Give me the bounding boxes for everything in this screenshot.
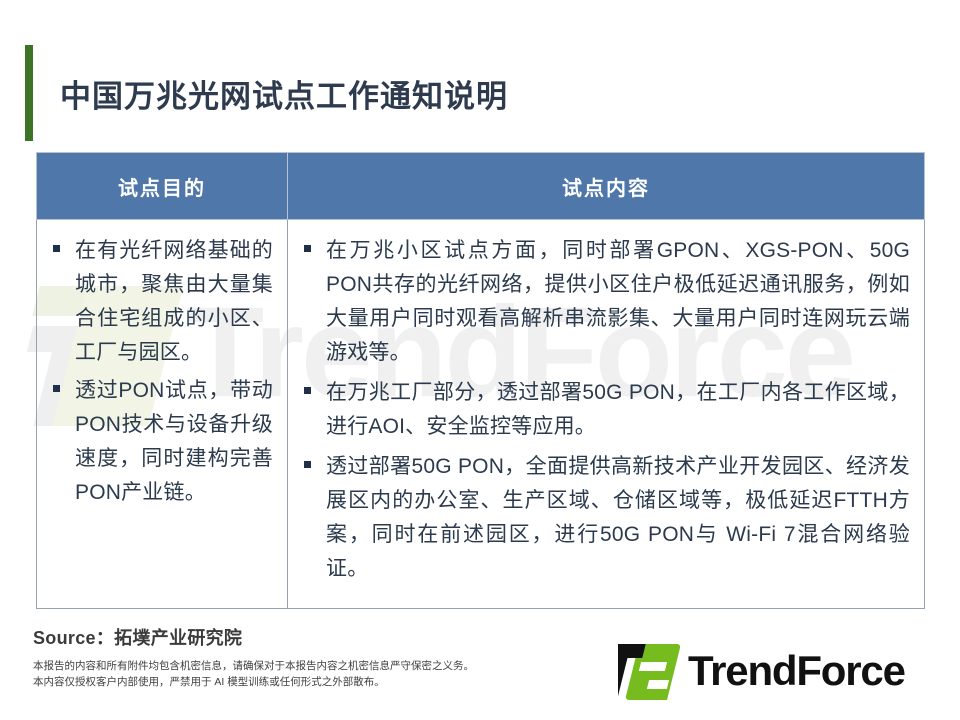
column-header-purpose: 试点目的: [37, 153, 288, 220]
trendforce-mark-icon: [618, 642, 680, 700]
trendforce-wordmark: TrendForce: [688, 650, 905, 692]
list-item: 透过PON试点，带动PON技术与设备升级速度，同时建构完善PON产业链。: [47, 374, 273, 510]
column-header-content: 试点内容: [288, 153, 925, 220]
page-title: 中国万兆光网试点工作通知说明: [0, 45, 508, 141]
purpose-bullet-list: 在有光纤网络基础的城市，聚焦由大量集合住宅组成的小区、工厂与园区。 透过PON试…: [47, 234, 273, 510]
list-item: 透过部署50G PON，全面提供高新技术产业开发园区、经济发展区内的办公室、生产…: [298, 450, 910, 586]
source-label: Source：拓墣产业研究院: [33, 624, 474, 650]
disclaimer-line-1: 本报告的内容和所有附件均包含机密信息，请确保对于本报告内容之机密信息严守保密之义…: [33, 658, 474, 674]
list-item: 在有光纤网络基础的城市，聚焦由大量集合住宅组成的小区、工厂与园区。: [47, 234, 273, 370]
table-body: 在有光纤网络基础的城市，聚焦由大量集合住宅组成的小区、工厂与园区。 透过PON试…: [37, 220, 925, 609]
table-header-row: 试点目的 试点内容: [37, 153, 925, 220]
content-bullet-list: 在万兆小区试点方面，同时部署GPON、XGS-PON、50G PON共存的光纤网…: [298, 234, 910, 586]
disclaimer-line-2: 本内容仅授权客户内部使用，严禁用于 AI 模型训练或任何形式之外部散布。: [33, 674, 474, 690]
cell-content: 在万兆小区试点方面，同时部署GPON、XGS-PON、50G PON共存的光纤网…: [288, 220, 925, 609]
cell-purpose: 在有光纤网络基础的城市，聚焦由大量集合住宅组成的小区、工厂与园区。 透过PON试…: [37, 220, 288, 609]
trendforce-logo: TrendForce: [618, 640, 938, 702]
title-accent-bar: [25, 45, 33, 141]
footer: Source：拓墣产业研究院 本报告的内容和所有附件均包含机密信息，请确保对于本…: [33, 624, 474, 691]
table-header: 试点目的 试点内容: [37, 153, 925, 220]
table-row: 在有光纤网络基础的城市，聚焦由大量集合住宅组成的小区、工厂与园区。 透过PON试…: [37, 220, 925, 609]
list-item: 在万兆工厂部分，透过部署50G PON，在工厂内各工作区域，进行AOI、安全监控…: [298, 376, 910, 444]
page-title-text: 中国万兆光网试点工作通知说明: [60, 71, 508, 116]
list-item: 在万兆小区试点方面，同时部署GPON、XGS-PON、50G PON共存的光纤网…: [298, 234, 910, 370]
slide-root: TrendForce 中国万兆光网试点工作通知说明 试点目的 试点内容 在有光纤…: [0, 0, 960, 720]
pilot-table: 试点目的 试点内容 在有光纤网络基础的城市，聚焦由大量集合住宅组成的小区、工厂与…: [36, 152, 925, 609]
